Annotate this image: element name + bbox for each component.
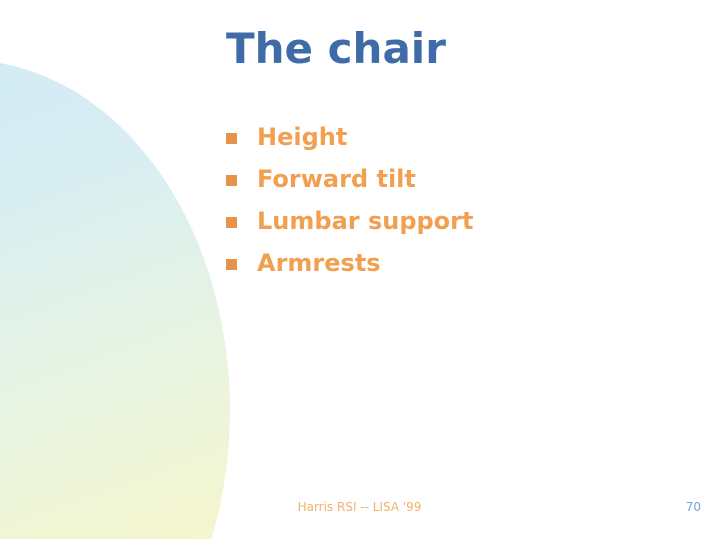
gradient-swoosh-shape xyxy=(0,60,230,539)
list-item: Height xyxy=(226,122,696,153)
page-title: The chair xyxy=(226,26,696,72)
list-item: Lumbar support xyxy=(226,206,696,237)
decorative-corner-graphic xyxy=(0,0,260,539)
slide: The chair Height Forward tilt Lumbar sup… xyxy=(0,0,719,539)
square-bullet-icon xyxy=(226,217,237,228)
list-item-label: Armrests xyxy=(257,248,381,279)
square-bullet-icon xyxy=(226,133,237,144)
footer-attribution: Harris RSI -- LISA '99 xyxy=(0,500,719,514)
list-item: Forward tilt xyxy=(226,164,696,195)
list-item-label: Lumbar support xyxy=(257,206,473,237)
square-bullet-icon xyxy=(226,259,237,270)
page-number: 70 xyxy=(686,500,701,514)
list-item-label: Forward tilt xyxy=(257,164,416,195)
list-item: Armrests xyxy=(226,248,696,279)
list-item-label: Height xyxy=(257,122,347,153)
square-bullet-icon xyxy=(226,175,237,186)
bullet-list: Height Forward tilt Lumbar support Armre… xyxy=(226,122,696,290)
